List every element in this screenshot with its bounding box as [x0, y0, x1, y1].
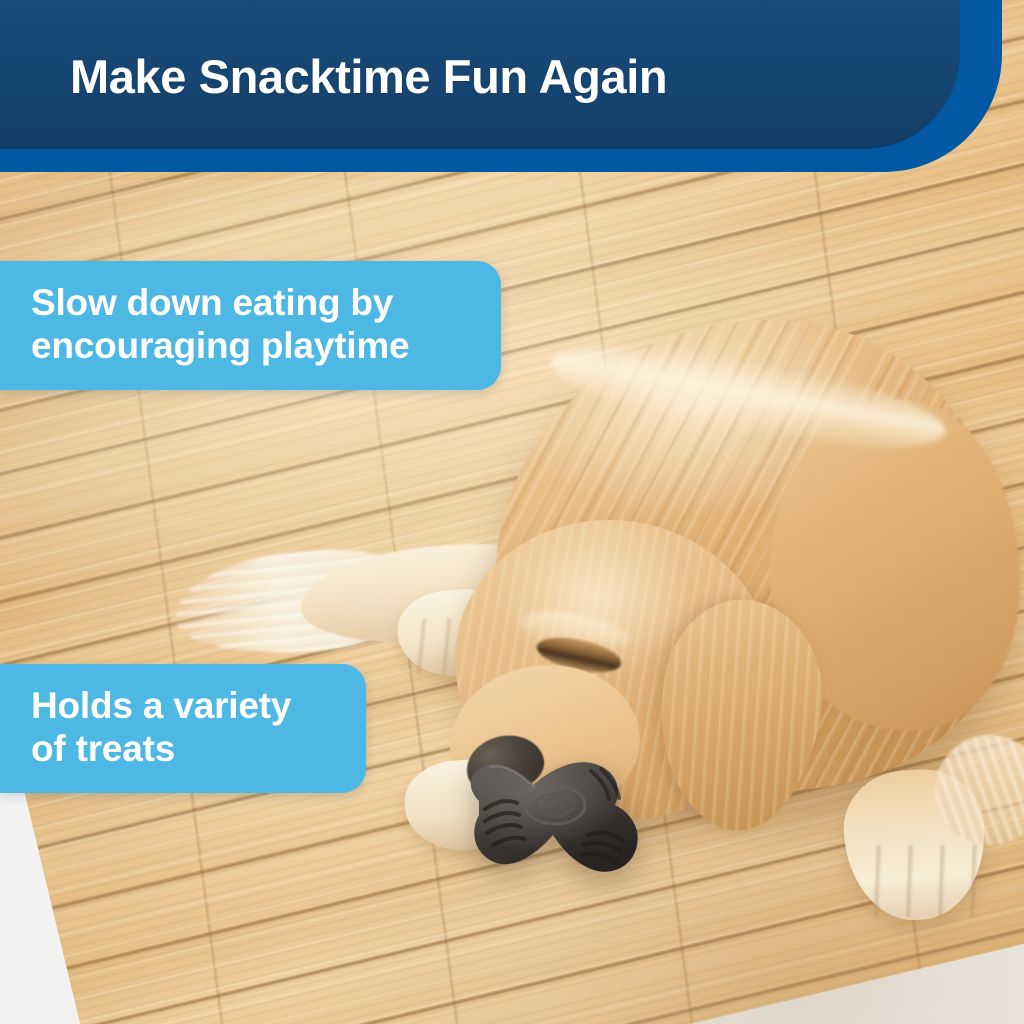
callout-line: encouraging playtime	[31, 324, 475, 367]
page-title: Make Snacktime Fun Again	[70, 49, 667, 104]
feature-callout-holds-treats: Holds a variety of treats	[0, 664, 366, 793]
header-banner: Make Snacktime Fun Again	[0, 0, 960, 149]
rubber-treat-toy	[445, 735, 675, 895]
feature-callout-slow-down-eating: Slow down eating by encouraging playtime	[0, 261, 501, 390]
callout-line: Slow down eating by	[31, 281, 475, 324]
dog-rear-paw-toes	[850, 845, 980, 917]
callout-line: Holds a variety	[31, 684, 340, 727]
promotional-banner: Make Snacktime Fun Again Slow down eatin…	[0, 0, 1024, 1024]
callout-line: of treats	[31, 727, 340, 770]
